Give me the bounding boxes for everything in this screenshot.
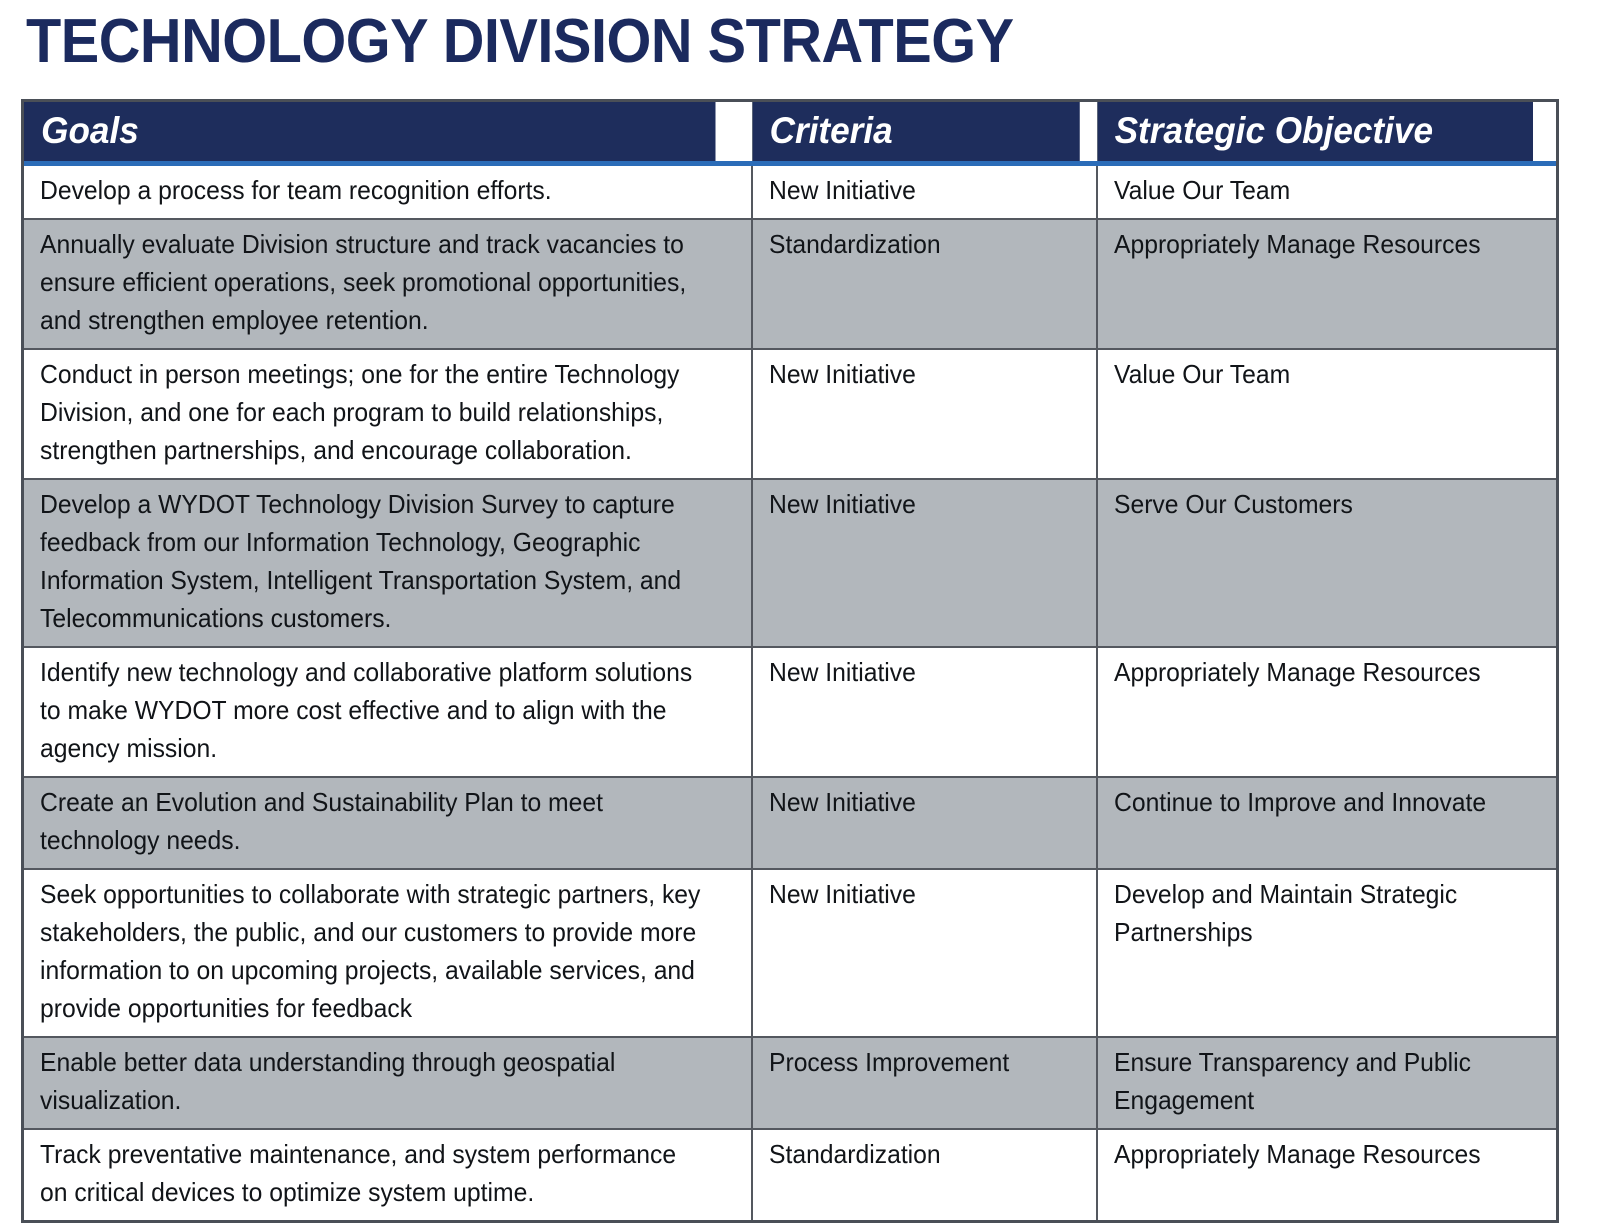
cell-criteria: New Initiative	[752, 164, 1097, 220]
page-title: TECHNOLOGY DIVISION STRATEGY	[26, 6, 1014, 78]
cell-criteria: New Initiative	[752, 777, 1097, 869]
cell-goal-text: Track preventative maintenance, and syst…	[40, 1135, 704, 1211]
column-header-criteria: Criteria	[752, 102, 1080, 164]
cell-goal-text: Develop a WYDOT Technology Division Surv…	[40, 485, 704, 637]
cell-objective-text: Serve Our Customers	[1114, 485, 1523, 523]
cell-goal-text: Develop a process for team recognition e…	[40, 171, 704, 209]
cell-objective-text: Appropriately Manage Resources	[1114, 225, 1523, 263]
cell-objective: Serve Our Customers	[1097, 479, 1556, 647]
cell-goal-text: Conduct in person meetings; one for the …	[40, 355, 704, 469]
cell-criteria-text: New Initiative	[769, 171, 1068, 209]
cell-criteria-text: Process Improvement	[769, 1043, 1068, 1081]
cell-objective-text: Develop and Maintain Strategic Partnersh…	[1114, 875, 1523, 951]
cell-criteria: New Initiative	[752, 479, 1097, 647]
cell-objective: Appropriately Manage Resources	[1097, 219, 1556, 349]
table-row: Enable better data understanding through…	[24, 1037, 1556, 1129]
cell-goal: Create an Evolution and Sustainability P…	[24, 777, 752, 869]
table-row: Develop a WYDOT Technology Division Surv…	[24, 479, 1556, 647]
cell-goal: Conduct in person meetings; one for the …	[24, 349, 752, 479]
cell-criteria: New Initiative	[752, 869, 1097, 1037]
cell-objective: Value Our Team	[1097, 164, 1556, 220]
cell-objective: Value Our Team	[1097, 349, 1556, 479]
cell-objective: Appropriately Manage Resources	[1097, 1129, 1556, 1220]
table-header-row: Goals Criteria Strategic Objective	[24, 102, 1556, 164]
strategy-table: Goals Criteria Strategic Objective Devel…	[24, 102, 1556, 1220]
table-header: Goals Criteria Strategic Objective	[24, 102, 1556, 164]
cell-criteria: New Initiative	[752, 647, 1097, 777]
cell-goal: Develop a WYDOT Technology Division Surv…	[24, 479, 752, 647]
table-body: Develop a process for team recognition e…	[24, 164, 1556, 1221]
cell-goal-text: Seek opportunities to collaborate with s…	[40, 875, 704, 1027]
table-row: Develop a process for team recognition e…	[24, 164, 1556, 220]
table-row: Create an Evolution and Sustainability P…	[24, 777, 1556, 869]
table-row: Seek opportunities to collaborate with s…	[24, 869, 1556, 1037]
cell-objective-text: Ensure Transparency and Public Engagemen…	[1114, 1043, 1523, 1119]
column-header-strategic-objective: Strategic Objective	[1097, 102, 1533, 164]
cell-criteria-text: New Initiative	[769, 485, 1068, 523]
cell-criteria: Process Improvement	[752, 1037, 1097, 1129]
cell-goal: Annually evaluate Division structure and…	[24, 219, 752, 349]
cell-goal: Seek opportunities to collaborate with s…	[24, 869, 752, 1037]
column-header-goals: Goals	[24, 102, 716, 164]
cell-goal-text: Create an Evolution and Sustainability P…	[40, 783, 704, 859]
cell-goal: Enable better data understanding through…	[24, 1037, 752, 1129]
cell-criteria: Standardization	[752, 1129, 1097, 1220]
cell-goal: Develop a process for team recognition e…	[24, 164, 752, 220]
cell-objective: Develop and Maintain Strategic Partnersh…	[1097, 869, 1556, 1037]
cell-objective-text: Continue to Improve and Innovate	[1114, 783, 1523, 821]
cell-criteria-text: New Initiative	[769, 875, 1068, 913]
cell-criteria: Standardization	[752, 219, 1097, 349]
table-row: Identify new technology and collaborativ…	[24, 647, 1556, 777]
cell-goal-text: Enable better data understanding through…	[40, 1043, 704, 1119]
cell-objective-text: Appropriately Manage Resources	[1114, 653, 1523, 691]
cell-criteria: New Initiative	[752, 349, 1097, 479]
table-row: Track preventative maintenance, and syst…	[24, 1129, 1556, 1220]
cell-objective: Appropriately Manage Resources	[1097, 647, 1556, 777]
cell-criteria-text: Standardization	[769, 225, 1068, 263]
cell-objective: Continue to Improve and Innovate	[1097, 777, 1556, 869]
cell-goal-text: Identify new technology and collaborativ…	[40, 653, 704, 767]
table-row: Conduct in person meetings; one for the …	[24, 349, 1556, 479]
cell-objective-text: Value Our Team	[1114, 355, 1523, 393]
cell-goal: Track preventative maintenance, and syst…	[24, 1129, 752, 1220]
strategy-page: TECHNOLOGY DIVISION STRATEGY Goals Crite…	[0, 0, 1598, 1199]
cell-objective-text: Appropriately Manage Resources	[1114, 1135, 1523, 1173]
table-row: Annually evaluate Division structure and…	[24, 219, 1556, 349]
cell-criteria-text: New Initiative	[769, 653, 1068, 691]
cell-objective: Ensure Transparency and Public Engagemen…	[1097, 1037, 1556, 1129]
cell-criteria-text: Standardization	[769, 1135, 1068, 1173]
cell-goal: Identify new technology and collaborativ…	[24, 647, 752, 777]
strategy-table-container: Goals Criteria Strategic Objective Devel…	[21, 99, 1559, 1223]
cell-criteria-text: New Initiative	[769, 355, 1068, 393]
cell-objective-text: Value Our Team	[1114, 171, 1523, 209]
cell-criteria-text: New Initiative	[769, 783, 1068, 821]
cell-goal-text: Annually evaluate Division structure and…	[40, 225, 704, 339]
